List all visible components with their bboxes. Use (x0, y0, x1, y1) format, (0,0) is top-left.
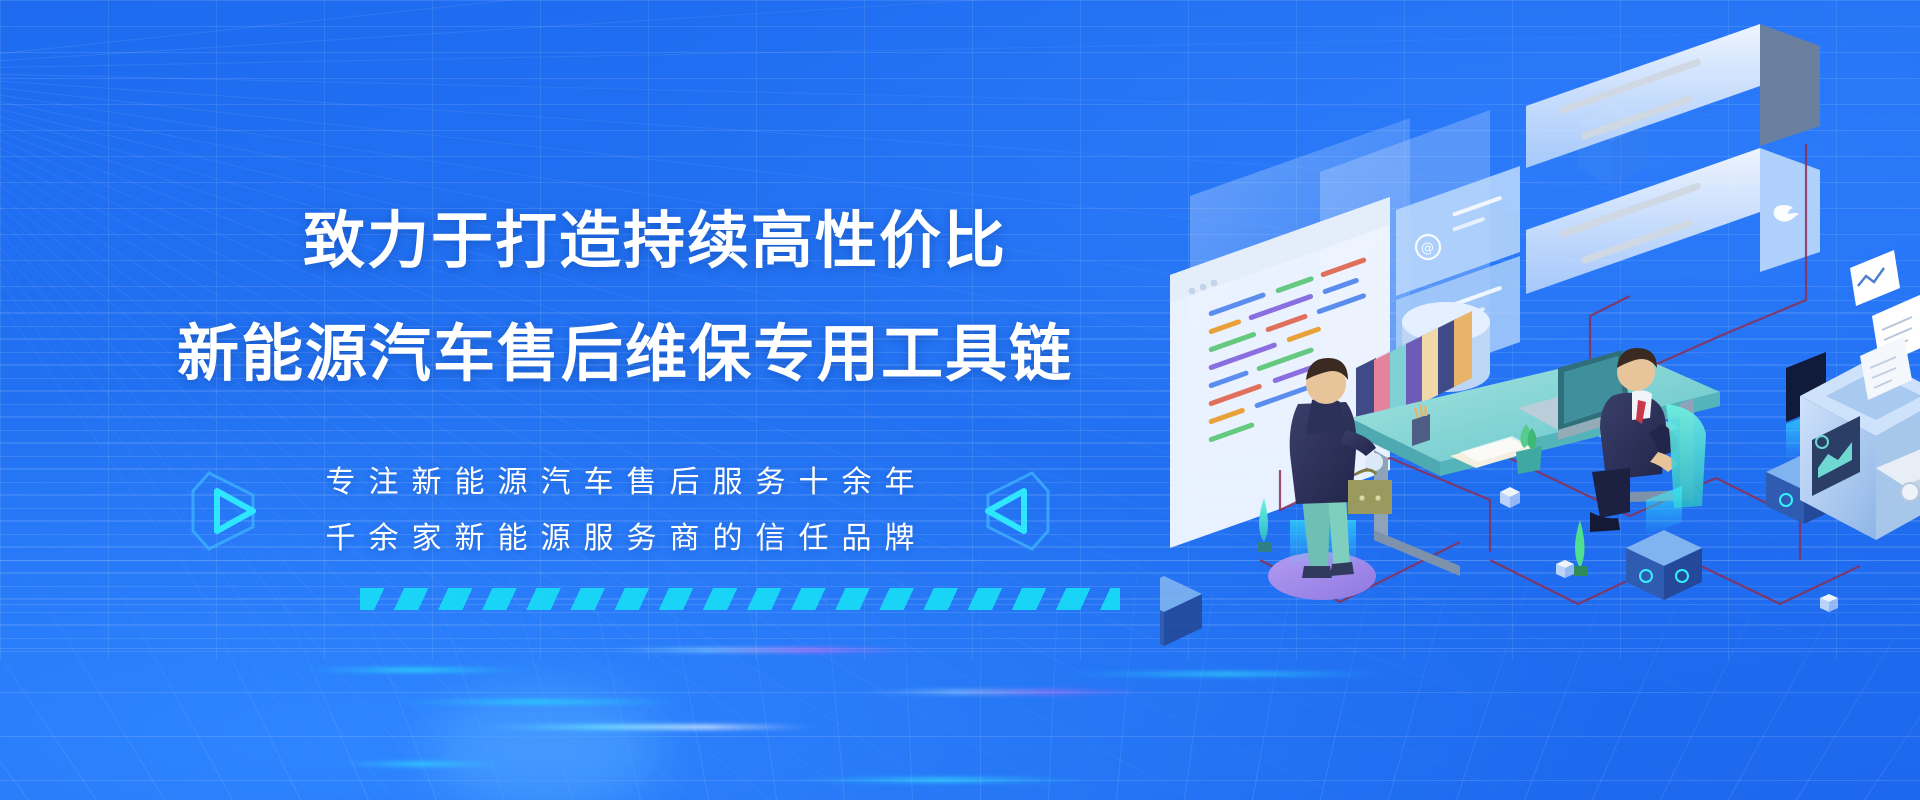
money-printing-machine (1800, 250, 1920, 540)
chat-bubble-card-2 (1526, 148, 1820, 294)
isometric-office-illustration: @ @ (1160, 0, 1920, 800)
headline-line-1: 致力于打造持续高性价比 (0, 205, 1240, 277)
play-arrow-right-hexagon-icon (187, 465, 273, 557)
subtitle-row: 专注新能源汽车售后服务十余年 千余家新能源服务商的信任品牌 (0, 462, 1240, 560)
diagonal-stripe-bar (360, 588, 1120, 610)
banner-copy: 致力于打造持续高性价比 新能源汽车售后维保专用工具链 专注新能源汽车售后服务十余… (0, 0, 1240, 800)
chat-bubble-card-1 (1526, 24, 1820, 168)
subtitle-line-1: 专注新能源汽车售后服务十余年 (313, 462, 928, 504)
subtitle-lines: 专注新能源汽车售后服务十余年 千余家新能源服务商的信任品牌 (313, 462, 928, 560)
floating-cube (1500, 487, 1520, 508)
svg-text:@: @ (1421, 241, 1434, 256)
floating-cube (1820, 594, 1838, 612)
floating-cube (1556, 560, 1574, 578)
cone-tree-2 (1574, 520, 1588, 576)
subtitle-line-2: 千余家新能源服务商的信任品牌 (313, 518, 928, 560)
headline-line-2: 新能源汽车售后维保专用工具链 (0, 318, 1240, 390)
hero-banner: @ @ (0, 0, 1920, 800)
play-arrow-left-hexagon-icon (968, 465, 1054, 557)
